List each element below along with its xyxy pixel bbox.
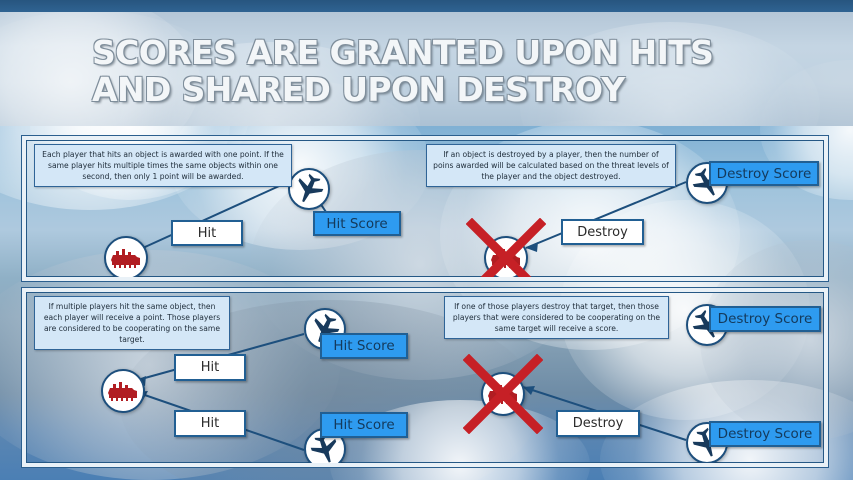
destroy-label[interactable]: Destroy	[556, 410, 640, 437]
page-title: SCORES ARE GRANTED UPON HITS AND SHARED …	[92, 34, 792, 108]
destroyed-ship-icon[interactable]	[481, 372, 525, 416]
hit-scoring-panel: Each player that hits an object is award…	[22, 136, 828, 281]
hit-score-label-2[interactable]: Hit Score	[320, 412, 408, 438]
hit-score-label[interactable]: Hit Score	[313, 211, 401, 236]
ship-glyph	[489, 246, 523, 270]
cooperation-hit-note: If multiple players hit the same object,…	[34, 296, 230, 350]
jet-icon[interactable]	[288, 168, 330, 210]
hit-rule-note: Each player that hits an object is award…	[34, 144, 292, 187]
destroy-score-label[interactable]: Destroy Score	[709, 306, 821, 332]
destroyed-ship-icon[interactable]	[484, 236, 528, 280]
ship-icon[interactable]	[101, 369, 145, 413]
ship-glyph	[109, 246, 143, 270]
top-sky-strip	[0, 0, 853, 12]
hit-label[interactable]: Hit	[171, 220, 243, 246]
hit-label[interactable]: Hit	[174, 354, 246, 381]
ship-glyph	[106, 379, 140, 403]
jet-glyph	[293, 173, 325, 205]
destroy-score-label[interactable]: Destroy Score	[709, 161, 819, 186]
ship-glyph	[486, 382, 520, 406]
destroy-score-label-2[interactable]: Destroy Score	[709, 421, 821, 447]
cooperation-destroy-note: If one of those players destroy that tar…	[444, 296, 669, 339]
slide-canvas: SCORES ARE GRANTED UPON HITS AND SHARED …	[0, 0, 853, 480]
ship-icon[interactable]	[104, 236, 148, 280]
hit-score-label[interactable]: Hit Score	[320, 333, 408, 359]
destroy-rule-note: If an object is destroyed by a player, t…	[426, 144, 676, 187]
title-band: SCORES ARE GRANTED UPON HITS AND SHARED …	[0, 12, 853, 126]
destroy-label[interactable]: Destroy	[561, 219, 644, 245]
hit-label-2[interactable]: Hit	[174, 410, 246, 437]
cooperative-scoring-panel: If multiple players hit the same object,…	[22, 288, 828, 467]
